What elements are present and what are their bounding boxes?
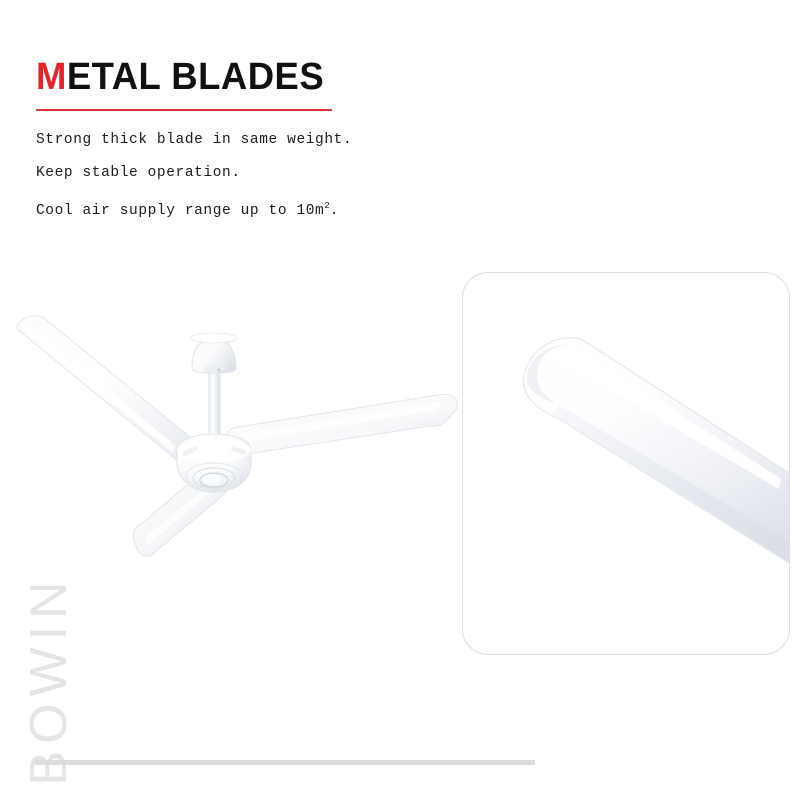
- title-accent-letter: M: [36, 56, 67, 98]
- fan-blade-right: [226, 394, 457, 455]
- title-underline-rule: [36, 109, 332, 111]
- heading-block: METAL BLADES: [36, 58, 556, 98]
- feature-line-3: Cool air supply range up to 10m2.: [36, 190, 556, 228]
- footer-divider: [35, 760, 535, 765]
- fan-motor-housing: [177, 434, 251, 492]
- fan-ceiling-canopy: [191, 333, 237, 373]
- feature-line-3-prefix: Cool air supply range up to 10m: [36, 203, 324, 219]
- blade-detail-panel: [462, 272, 790, 655]
- product-feature-slide: METAL BLADES Strong thick blade in same …: [0, 0, 800, 800]
- feature-line-1: Strong thick blade in same weight.: [36, 124, 556, 157]
- magnified-blade: [523, 338, 789, 563]
- feature-description: Strong thick blade in same weight. Keep …: [36, 124, 556, 228]
- fan-blade-upper-left: [17, 316, 200, 462]
- title-rest: ETAL BLADES: [67, 56, 324, 98]
- feature-line-2: Keep stable operation.: [36, 157, 556, 190]
- fan-downrod: [209, 366, 220, 444]
- page-title: METAL BLADES: [36, 58, 535, 98]
- feature-line-3-suffix: .: [330, 203, 339, 219]
